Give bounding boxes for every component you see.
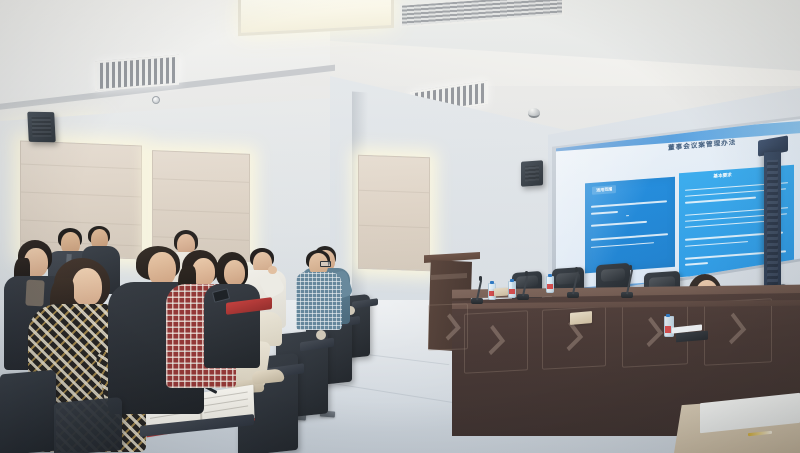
lectern-panel <box>424 300 472 352</box>
tissue-box[interactable] <box>570 311 592 325</box>
glasses-icon <box>320 261 331 267</box>
dome-security-camera <box>528 108 540 118</box>
audience-chair[interactable] <box>54 397 122 453</box>
conference-room-photo: 董事会议案管理办法 适用范围 基本要求 <box>0 0 800 453</box>
sprinkler-head <box>152 96 160 104</box>
attendee-checked-shirt-glasses <box>296 250 350 342</box>
hand <box>268 266 277 274</box>
audience-chair[interactable] <box>0 370 56 453</box>
wall-speaker-icon <box>521 160 543 187</box>
gooseneck-microphone[interactable] <box>620 266 634 300</box>
tissue-box[interactable] <box>494 288 508 297</box>
gooseneck-microphone[interactable] <box>566 268 580 300</box>
water-bottle[interactable] <box>508 281 516 298</box>
gooseneck-microphone[interactable] <box>516 272 530 302</box>
gooseneck-microphone[interactable] <box>470 276 484 306</box>
water-bottle[interactable] <box>546 276 554 293</box>
column-speaker-icon <box>764 152 781 303</box>
window-blind <box>358 155 430 272</box>
wall-speaker-icon <box>27 112 56 143</box>
